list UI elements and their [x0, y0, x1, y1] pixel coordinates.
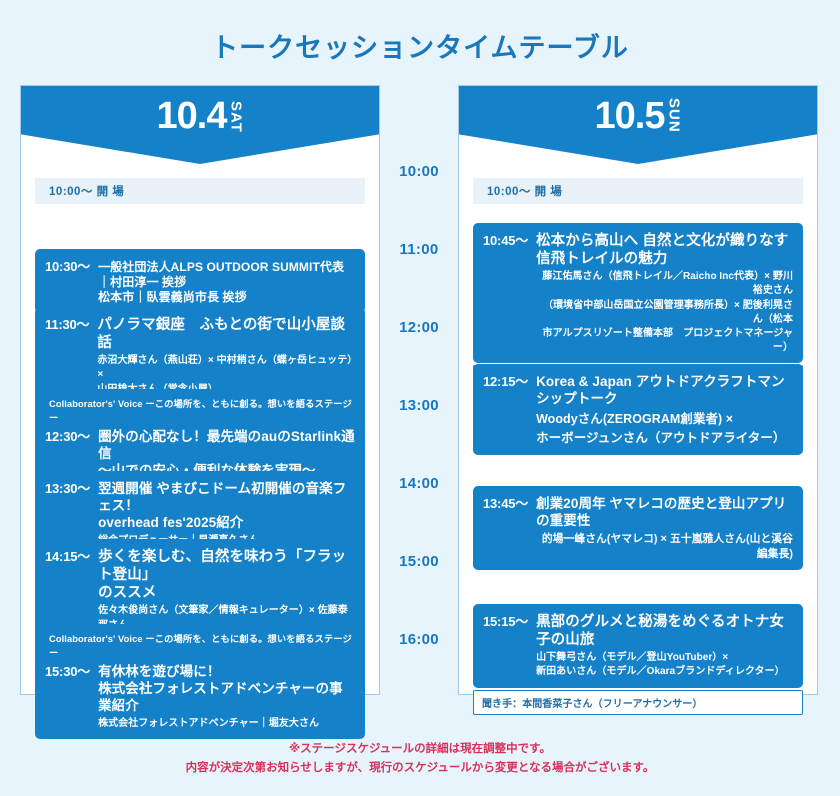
session-title: 創業20周年 ヤマレコの歴史と登山アプリの重要性: [536, 496, 793, 530]
time-axis-label: 15:00: [380, 553, 458, 570]
session-card[interactable]: 10:45〜松本から高山へ 自然と文化が織りなす信飛トレイルの魅力藤江佑馬さん（…: [473, 223, 803, 363]
session-row: 12:15〜Korea & Japan アウトドアクラフトマンシップトークWoo…: [483, 371, 793, 447]
session-title-line: 有休林を遊び場に！: [98, 664, 355, 681]
session-time: 14:15〜: [45, 546, 90, 565]
time-axis: 10:0011:0012:0013:0014:0015:0016:00: [380, 85, 458, 695]
page-title: トークセッションタイムテーブル: [0, 26, 840, 65]
collaborators-voice-tag: Collaborator's' Voice ーこの場所を、ともに創る。想いを語る…: [45, 396, 355, 424]
listener-strip: 聞き手：本間香菜子さん（フリーアナウンサー）: [473, 690, 803, 715]
session-card[interactable]: 15:15〜黒部のグルメと秘湯をめぐるオトナ女子の山旅山下舞弓さん（モデル／登山…: [473, 604, 803, 688]
session-speaker-line: 市アルプスリゾート整備本部 プロジェクトマネージャー）: [536, 327, 793, 355]
session-body: 一般社団法人ALPS OUTDOOR SUMMIT代表｜村田淳一 挨拶松本市｜臥…: [98, 260, 355, 305]
session-title-line: 黒部のグルメと秘湯をめぐるオトナ女子の山旅: [536, 613, 793, 649]
session-row: 13:45〜創業20周年 ヤマレコの歴史と登山アプリの重要性的場一峰さん(ヤマレ…: [483, 493, 793, 562]
session-row: 15:30〜有休林を遊び場に！株式会社フォレストアドベンチャーの事業紹介株式会社…: [45, 661, 355, 731]
session-card[interactable]: 12:15〜Korea & Japan アウトドアクラフトマンシップトークWoo…: [473, 364, 803, 455]
session-row: 10:30〜一般社団法人ALPS OUTDOOR SUMMIT代表｜村田淳一 挨…: [45, 256, 355, 305]
session-title-line: のススメ: [98, 584, 355, 602]
session-title: パノラマ銀座 ふもとの街で山小屋談話: [97, 316, 355, 352]
session-body: Korea & Japan アウトドアクラフトマンシップトークWoodyさん(Z…: [536, 374, 793, 447]
session-title-line: 圏外の心配なし！最先端のauのStarlink通信: [98, 429, 355, 463]
session-speakers: 的場一峰さん(ヤマレコ) × 五十嵐雅人さん(山と溪谷編集長): [536, 532, 793, 563]
session-time: 13:45〜: [483, 493, 528, 512]
open-bar: 10:00〜 開 場: [35, 178, 365, 204]
session-row: 10:45〜松本から高山へ 自然と文化が織りなす信飛トレイルの魅力藤江佑馬さん（…: [483, 230, 793, 355]
session-card[interactable]: Collaborator's' Voice ーこの場所を、ともに創る。想いを語る…: [35, 624, 365, 739]
session-title-line: 歩くを楽しむ、自然を味わう「フラット登山」: [98, 548, 355, 584]
session-title: 一般社団法人ALPS OUTDOOR SUMMIT代表｜村田淳一 挨拶松本市｜臥…: [98, 260, 355, 305]
date-day-of-week: SUN: [666, 98, 681, 133]
session-title-line: 松本市｜臥雲義尚市長 挨拶: [98, 290, 355, 305]
session-title: Korea & Japan アウトドアクラフトマンシップトーク: [536, 374, 793, 408]
session-speaker-line: 赤沼大輝さん（燕山荘）× 中村梢さん（蝶ヶ岳ヒュッテ）×: [97, 354, 355, 382]
session-body: 歩くを楽しむ、自然を味わう「フラット登山」のススメ佐々木俊尚さん（文筆家／情報キ…: [98, 548, 355, 633]
session-time: 10:45〜: [483, 230, 528, 249]
session-title-line: overhead fes'2025紹介: [98, 515, 355, 532]
session-title-line: パノラマ銀座 ふもとの街で山小屋談話: [97, 316, 355, 352]
session-title-line: 翌週開催 やまびこドーム初開催の音楽フェス！: [98, 481, 355, 515]
open-bar: 10:00〜 開 場: [473, 178, 803, 204]
session-title-line: 信飛トレイルの魅力: [536, 250, 793, 268]
session-time: 12:15〜: [483, 371, 528, 390]
date-banner-sunday: 10.5 SUN: [459, 86, 817, 164]
session-speaker-line: ホーボージュンさん（アウトドアライター）: [536, 429, 793, 448]
timeline-sunday: 10:00〜 開 場10:45〜松本から高山へ 自然と文化が織りなす信飛トレイル…: [459, 164, 817, 696]
collaborators-voice-tag: Collaborator's' Voice ーこの場所を、ともに創る。想いを語る…: [45, 631, 355, 659]
session-title: 黒部のグルメと秘湯をめぐるオトナ女子の山旅: [536, 613, 793, 649]
session-speaker-line: 山下舞弓さん（モデル／登山YouTuber）×: [536, 651, 793, 665]
session-title-line: 創業20周年 ヤマレコの歴史と登山アプリの重要性: [536, 496, 793, 530]
session-speakers: 山下舞弓さん（モデル／登山YouTuber）×新田あいさん（モデル／Okaraブ…: [536, 651, 793, 679]
day-column-saturday: 10.4 SAT 10:00〜 開 場10:30〜一般社団法人ALPS OUTD…: [20, 85, 380, 695]
session-speaker-line: （環境省中部山岳国立公園管理事務所長）× 肥後利晃さん（松本: [536, 299, 793, 327]
date-inner: 10.5 SUN: [595, 98, 682, 134]
session-speakers: Woodyさん(ZEROGRAM創業者) ×ホーボージュンさん（アウトドアライタ…: [536, 410, 793, 448]
session-speakers: 藤江佑馬さん（信飛トレイル／Raicho Inc代表）× 野川裕史さん（環境省中…: [536, 270, 793, 355]
session-speaker-line: 的場一峰さん(ヤマレコ) × 五十嵐雅人さん(山と溪谷編集長): [536, 532, 793, 563]
session-card[interactable]: 13:45〜創業20周年 ヤマレコの歴史と登山アプリの重要性的場一峰さん(ヤマレ…: [473, 486, 803, 570]
session-row: 14:15〜歩くを楽しむ、自然を味わう「フラット登山」のススメ佐々木俊尚さん（文…: [45, 546, 355, 633]
time-axis-label: 11:00: [380, 241, 458, 258]
session-row: 15:15〜黒部のグルメと秘湯をめぐるオトナ女子の山旅山下舞弓さん（モデル／登山…: [483, 611, 793, 680]
session-title-line: 松本から高山へ 自然と文化が織りなす: [536, 232, 793, 250]
session-body: 翌週開催 やまびこドーム初開催の音楽フェス！overhead fes'2025紹…: [98, 481, 355, 548]
date-inner: 10.4 SAT: [157, 98, 244, 134]
session-body: 有休林を遊び場に！株式会社フォレストアドベンチャーの事業紹介株式会社フォレストア…: [98, 664, 355, 731]
session-card[interactable]: 10:30〜一般社団法人ALPS OUTDOOR SUMMIT代表｜村田淳一 挨…: [35, 249, 365, 313]
session-row: 13:30〜翌週開催 やまびこドーム初開催の音楽フェス！overhead fes…: [45, 478, 355, 548]
session-time: 13:30〜: [45, 478, 90, 497]
time-axis-label: 12:00: [380, 319, 458, 336]
time-axis-label: 14:00: [380, 475, 458, 492]
session-speaker-line: 新田あいさん（モデル／Okaraブランドディレクター）: [536, 665, 793, 679]
session-body: パノラマ銀座 ふもとの街で山小屋談話赤沼大輝さん（燕山荘）× 中村梢さん（蝶ヶ岳…: [97, 316, 355, 397]
session-speaker-line: Woodyさん(ZEROGRAM創業者) ×: [536, 410, 793, 429]
footer-note: ※ステージスケジュールの詳細は現在調整中です。 内容が決定次第お知らせしますが、…: [0, 740, 840, 778]
date-banner-saturday: 10.4 SAT: [21, 86, 379, 164]
session-time: 11:30〜: [45, 314, 89, 333]
session-speakers: 株式会社フォレストアドベンチャー｜堀友大さん: [98, 717, 355, 731]
date-number: 10.4: [157, 98, 227, 134]
session-time: 15:30〜: [45, 661, 90, 680]
session-body: 松本から高山へ 自然と文化が織りなす信飛トレイルの魅力藤江佑馬さん（信飛トレイル…: [536, 232, 793, 355]
session-title: 松本から高山へ 自然と文化が織りなす信飛トレイルの魅力: [536, 232, 793, 268]
session-time: 10:30〜: [45, 256, 90, 275]
session-title: 有休林を遊び場に！株式会社フォレストアドベンチャーの事業紹介: [98, 664, 355, 715]
session-row: 11:30〜パノラマ銀座 ふもとの街で山小屋談話赤沼大輝さん（燕山荘）× 中村梢…: [45, 314, 355, 397]
session-speaker-line: 藤江佑馬さん（信飛トレイル／Raicho Inc代表）× 野川裕史さん: [536, 270, 793, 298]
session-title: 翌週開催 やまびこドーム初開催の音楽フェス！overhead fes'2025紹…: [98, 481, 355, 532]
footer-note-line-2: 内容が決定次第お知らせしますが、現行のスケジュールから変更となる場合がございます…: [0, 759, 840, 778]
session-title: 歩くを楽しむ、自然を味わう「フラット登山」のススメ: [98, 548, 355, 602]
time-axis-label: 13:00: [380, 397, 458, 414]
time-axis-label: 16:00: [380, 631, 458, 648]
session-title-line: 一般社団法人ALPS OUTDOOR SUMMIT代表｜村田淳一 挨拶: [98, 260, 355, 290]
session-time: 15:15〜: [483, 611, 528, 630]
footer-note-line-1: ※ステージスケジュールの詳細は現在調整中です。: [0, 740, 840, 759]
session-body: 創業20周年 ヤマレコの歴史と登山アプリの重要性的場一峰さん(ヤマレコ) × 五…: [536, 496, 793, 562]
session-body: 黒部のグルメと秘湯をめぐるオトナ女子の山旅山下舞弓さん（モデル／登山YouTub…: [536, 613, 793, 680]
session-time: 12:30〜: [45, 426, 90, 445]
day-column-sunday: 10.5 SUN 10:00〜 開 場10:45〜松本から高山へ 自然と文化が織…: [458, 85, 818, 695]
session-title-line: Korea & Japan アウトドアクラフトマンシップトーク: [536, 374, 793, 408]
date-number: 10.5: [595, 98, 665, 134]
timeline-saturday: 10:00〜 開 場10:30〜一般社団法人ALPS OUTDOOR SUMMI…: [21, 164, 379, 696]
date-day-of-week: SAT: [228, 101, 243, 133]
session-speaker-line: 株式会社フォレストアドベンチャー｜堀友大さん: [98, 717, 355, 731]
session-title-line: 株式会社フォレストアドベンチャーの事業紹介: [98, 681, 355, 715]
time-axis-label: 10:00: [380, 163, 458, 180]
